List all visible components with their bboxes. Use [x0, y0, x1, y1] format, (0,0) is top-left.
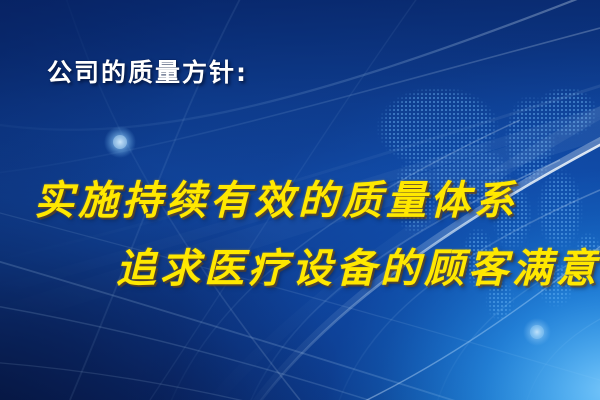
glow-node-icon [104, 126, 136, 158]
slide-canvas: 公司的质量方针: 实施持续有效的质量体系 追求医疗设备的顾客满意 [0, 0, 600, 400]
page-title: 公司的质量方针: [47, 53, 248, 89]
glow-node-icon [523, 318, 551, 346]
glow-node-core [530, 325, 544, 339]
glow-node-core [113, 135, 127, 149]
policy-statement-line-1: 实施持续有效的质量体系 [34, 168, 518, 226]
policy-statement-line-2: 追求医疗设备的顾客满意 [116, 236, 600, 294]
